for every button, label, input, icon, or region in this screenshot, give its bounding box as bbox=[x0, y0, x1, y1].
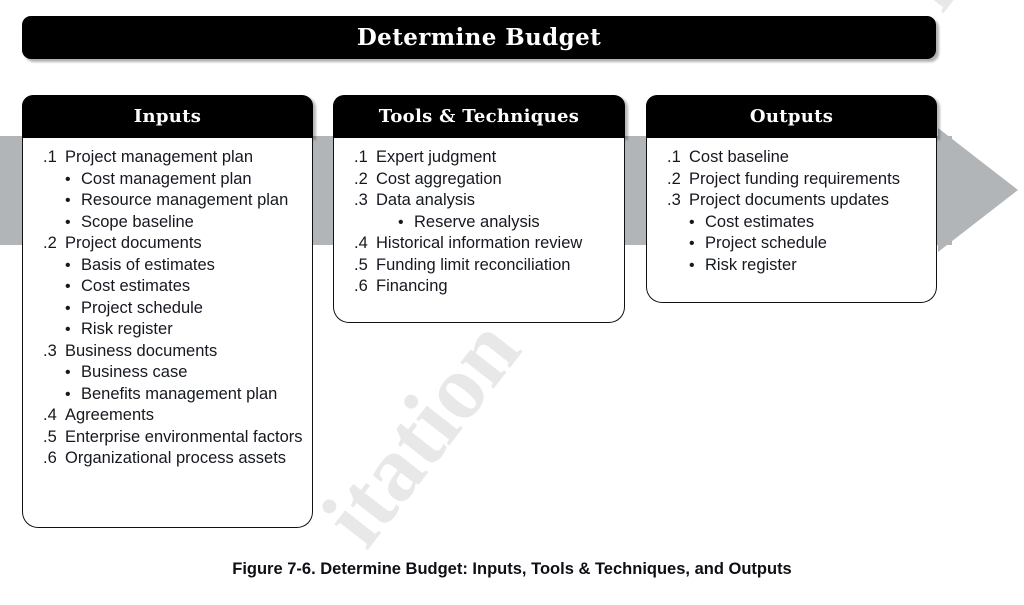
itto-item-label: Agreements bbox=[65, 405, 304, 427]
itto-numbered-item: .3Project documents updates bbox=[655, 190, 928, 212]
itto-numbered-item: .5Enterprise environmental factors bbox=[31, 427, 304, 449]
figure-canvas: itation itation Determine Budget Inputs … bbox=[0, 0, 1024, 605]
itto-bullet-item: Cost estimates bbox=[655, 212, 928, 234]
itto-numbered-item: .5Funding limit reconciliation bbox=[342, 255, 616, 277]
itto-header-label-inputs: Inputs bbox=[134, 106, 201, 127]
itto-item-label: Cost aggregation bbox=[376, 169, 616, 191]
itto-numbered-item: .1Project management plan bbox=[31, 147, 304, 169]
watermark-bottom-center: itation bbox=[300, 299, 541, 566]
itto-box-body-tools-techniques: .1Expert judgment.2Cost aggregation.3Dat… bbox=[333, 138, 625, 323]
itto-item-label: Project documents updates bbox=[689, 190, 928, 212]
itto-item-label: Project documents bbox=[65, 233, 304, 255]
itto-item-number: .4 bbox=[354, 233, 376, 255]
itto-box-inputs: Inputs .1Project management planCost man… bbox=[22, 95, 313, 528]
itto-box-body-inputs: .1Project management planCost management… bbox=[22, 138, 313, 528]
itto-item-number: .6 bbox=[354, 276, 376, 298]
itto-bullet-item: Risk register bbox=[655, 255, 928, 277]
itto-bullet-item: Reserve analysis bbox=[342, 212, 616, 234]
itto-bullet-item: Scope baseline bbox=[31, 212, 304, 234]
itto-numbered-item: .2Project funding requirements bbox=[655, 169, 928, 191]
itto-bullet-item: Project schedule bbox=[31, 298, 304, 320]
process-title-bar: Determine Budget bbox=[22, 16, 936, 59]
itto-numbered-item: .3Business documents bbox=[31, 341, 304, 363]
itto-bullet-item: Risk register bbox=[31, 319, 304, 341]
itto-bullet-item: Basis of estimates bbox=[31, 255, 304, 277]
itto-numbered-item: .4Historical information review bbox=[342, 233, 616, 255]
itto-box-tools-techniques: Tools & Techniques .1Expert judgment.2Co… bbox=[333, 95, 625, 323]
itto-item-number: .4 bbox=[43, 405, 65, 427]
itto-bullet-item: Business case bbox=[31, 362, 304, 384]
itto-item-number: .1 bbox=[354, 147, 376, 169]
itto-item-label: Project management plan bbox=[65, 147, 304, 169]
itto-numbered-item: .3Data analysis bbox=[342, 190, 616, 212]
itto-box-header-outputs: Outputs bbox=[646, 95, 937, 138]
itto-bullet-item: Project schedule bbox=[655, 233, 928, 255]
itto-item-number: .6 bbox=[43, 448, 65, 470]
itto-item-label: Historical information review bbox=[376, 233, 616, 255]
itto-item-number: .3 bbox=[354, 190, 376, 212]
itto-box-body-outputs: .1Cost baseline.2Project funding require… bbox=[646, 138, 937, 303]
itto-item-label: Enterprise environmental factors bbox=[65, 427, 304, 449]
itto-numbered-item: .6Organizational process assets bbox=[31, 448, 304, 470]
itto-bullet-item: Cost estimates bbox=[31, 276, 304, 298]
itto-item-number: .2 bbox=[43, 233, 65, 255]
itto-box-header-inputs: Inputs bbox=[22, 95, 313, 138]
itto-header-label-tools-techniques: Tools & Techniques bbox=[379, 106, 580, 127]
itto-item-label: Business documents bbox=[65, 341, 304, 363]
itto-list-inputs: .1Project management planCost management… bbox=[31, 147, 304, 470]
itto-item-number: .2 bbox=[354, 169, 376, 191]
itto-box-outputs: Outputs .1Cost baseline.2Project funding… bbox=[646, 95, 937, 303]
itto-item-number: .3 bbox=[43, 341, 65, 363]
itto-item-number: .5 bbox=[43, 427, 65, 449]
itto-numbered-item: .2Cost aggregation bbox=[342, 169, 616, 191]
itto-bullet-item: Benefits management plan bbox=[31, 384, 304, 406]
itto-item-number: .1 bbox=[667, 147, 689, 169]
itto-list-outputs: .1Cost baseline.2Project funding require… bbox=[655, 147, 928, 276]
itto-numbered-item: .1Cost baseline bbox=[655, 147, 928, 169]
itto-item-label: Project funding requirements bbox=[689, 169, 928, 191]
itto-item-number: .2 bbox=[667, 169, 689, 191]
itto-bullet-item: Resource management plan bbox=[31, 190, 304, 212]
itto-item-label: Cost baseline bbox=[689, 147, 928, 169]
itto-item-label: Funding limit reconciliation bbox=[376, 255, 616, 277]
itto-numbered-item: .1Expert judgment bbox=[342, 147, 616, 169]
itto-item-label: Expert judgment bbox=[376, 147, 616, 169]
itto-numbered-item: .4Agreements bbox=[31, 405, 304, 427]
itto-numbered-item: .6Financing bbox=[342, 276, 616, 298]
itto-numbered-item: .2Project documents bbox=[31, 233, 304, 255]
process-flow-arrow-head-icon bbox=[938, 128, 1018, 252]
itto-header-label-outputs: Outputs bbox=[750, 106, 833, 127]
figure-caption: Figure 7-6. Determine Budget: Inputs, To… bbox=[0, 560, 1024, 579]
itto-bullet-item: Cost management plan bbox=[31, 169, 304, 191]
itto-box-header-tools-techniques: Tools & Techniques bbox=[333, 95, 625, 138]
process-title: Determine Budget bbox=[357, 24, 601, 51]
itto-item-number: .5 bbox=[354, 255, 376, 277]
itto-item-label: Financing bbox=[376, 276, 616, 298]
itto-item-label: Data analysis bbox=[376, 190, 616, 212]
itto-item-label: Organizational process assets bbox=[65, 448, 304, 470]
itto-item-number: .3 bbox=[667, 190, 689, 212]
itto-list-tools-techniques: .1Expert judgment.2Cost aggregation.3Dat… bbox=[342, 147, 616, 298]
itto-item-number: .1 bbox=[43, 147, 65, 169]
